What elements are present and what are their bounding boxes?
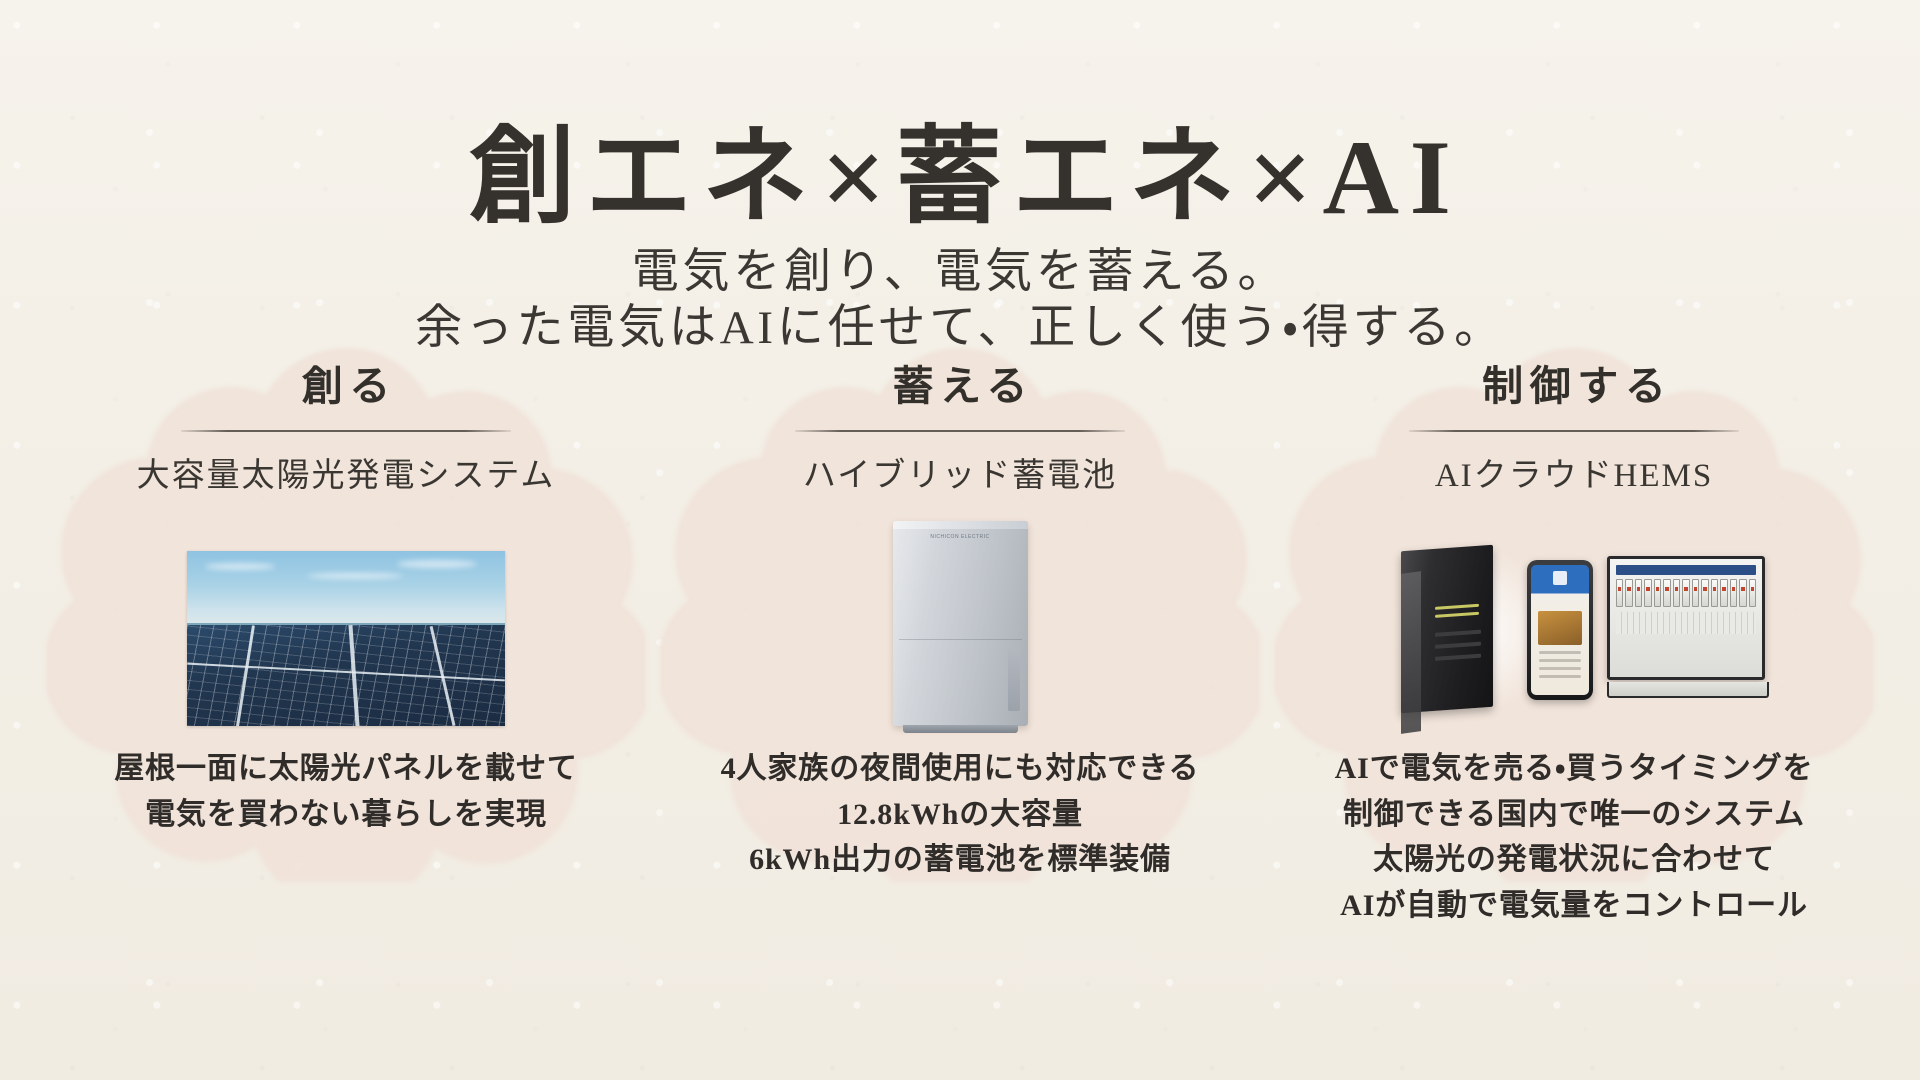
column-artwork-1 <box>46 518 646 726</box>
column-artwork-3 <box>1274 518 1874 726</box>
feature-column-create: 創る 大容量太陽光発電システム <box>46 330 646 1070</box>
column-subtitle-control: AIクラウドHEMS <box>1274 448 1874 496</box>
column-divider-1 <box>181 430 511 432</box>
caption-line: 屋根一面に太陽光パネルを載せて <box>46 746 646 792</box>
page-title: 創エネ✕蓄エネ✕AI <box>0 119 1920 238</box>
headline-part-ai: AI <box>1323 119 1462 236</box>
hems-distribution-board <box>1607 556 1765 680</box>
hems-server-tower <box>1401 545 1493 713</box>
column-subtitle-create: 大容量太陽光発電システム <box>46 448 646 496</box>
feature-column-control: 制御する AIクラウドHEMS <box>1274 330 1874 1070</box>
column-title-store: 蓄える <box>660 330 1260 412</box>
caption-line: 12.8kWhの大容量 <box>660 792 1260 838</box>
column-subtitle-store: ハイブリッド蓄電池 <box>660 448 1260 496</box>
column-divider-3 <box>1409 430 1739 432</box>
caption-line: 6kWh出力の蓄電池を標準装備 <box>660 837 1260 883</box>
column-caption-store: 4人家族の夜間使用にも対応できる 12.8kWhの大容量 6kWh出力の蓄電池を… <box>660 746 1260 883</box>
caption-line: AIで電気を売る・買うタイミングを <box>1274 746 1874 792</box>
column-title-create: 創る <box>46 330 646 412</box>
solar-panel-array-photo <box>187 551 505 726</box>
column-caption-control: AIで電気を売る・買うタイミングを 制御できる国内で唯一のシステム 太陽光の発電… <box>1274 746 1874 928</box>
column-caption-create: 屋根一面に太陽光パネルを載せて 電気を買わない暮らしを実現 <box>46 746 646 837</box>
caption-line: 電気を買わない暮らしを実現 <box>46 792 646 838</box>
battery-brand-label: NICHICON ELECTRIC <box>893 534 1028 540</box>
multiply-icon-1: ✕ <box>819 135 896 226</box>
caption-line: 4人家族の夜間使用にも対応できる <box>660 746 1260 792</box>
headline-part-chiku-ene: 蓄エネ <box>896 119 1246 236</box>
feature-columns: 創る 大容量太陽光発電システム <box>0 330 1920 1070</box>
caption-line: 太陽光の発電状況に合わせて <box>1274 837 1874 883</box>
column-divider-2 <box>795 430 1125 432</box>
multiply-icon-2: ✕ <box>1246 135 1323 226</box>
caption-line: 制御できる国内で唯一のシステム <box>1274 792 1874 838</box>
column-artwork-2: NICHICON ELECTRIC <box>660 518 1260 726</box>
column-title-control: 制御する <box>1274 330 1874 412</box>
caption-line: AIが自動で電気量をコントロール <box>1274 883 1874 929</box>
hems-smartphone-app <box>1527 560 1593 700</box>
hybrid-storage-battery-photo: NICHICON ELECTRIC <box>893 521 1028 726</box>
headline-part-sou-ene: 創エネ <box>469 119 819 236</box>
feature-column-store: 蓄える ハイブリッド蓄電池 NICHICON ELECTRIC 4人家族の夜間使… <box>660 330 1260 1070</box>
ai-cloud-hems-devices-photo <box>1379 526 1769 726</box>
